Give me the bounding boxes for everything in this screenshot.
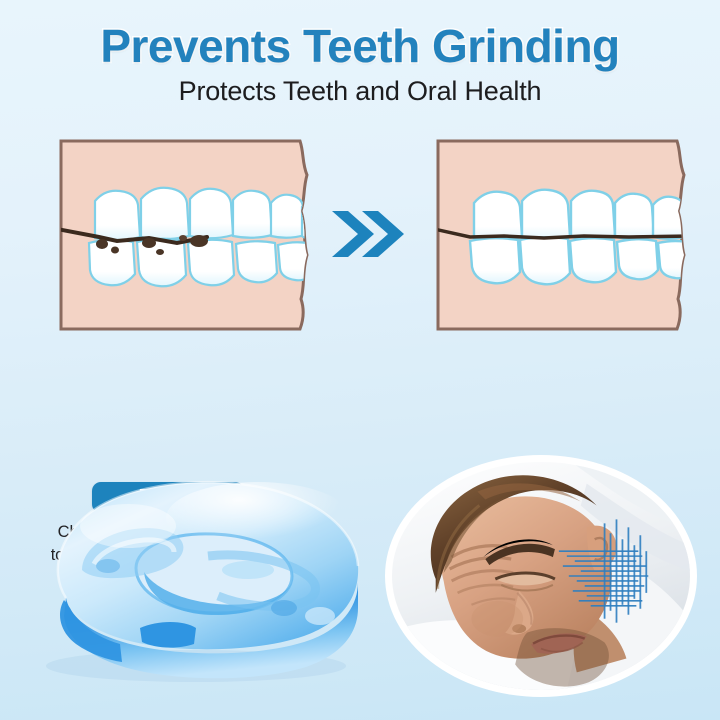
vent-dimple (96, 559, 120, 573)
product-mouthguard-image (8, 448, 380, 696)
gloss-highlight (166, 482, 350, 554)
page-subtitle: Protects Teeth and Oral Health (0, 76, 720, 107)
page-title: Prevents Teeth Grinding (0, 22, 720, 70)
vent-dimple (305, 607, 335, 625)
vent-dimple (271, 600, 297, 616)
vent-dimple (222, 561, 274, 579)
sleeping-man-photo (392, 462, 690, 690)
sleeping-man-photo-frame (385, 455, 697, 697)
double-chevron-right-icon (330, 203, 406, 265)
header: Prevents Teeth Grinding Protects Teeth a… (0, 0, 720, 107)
infographic-page: Prevents Teeth Grinding Protects Teeth a… (0, 0, 720, 720)
upper-teeth-row (95, 188, 311, 241)
before-illustration-panel (57, 137, 311, 333)
after-illustration-panel (434, 137, 688, 333)
front-notch (140, 622, 196, 648)
before-after-comparison: Before After Chronic teeth grinding lead… (0, 137, 720, 337)
